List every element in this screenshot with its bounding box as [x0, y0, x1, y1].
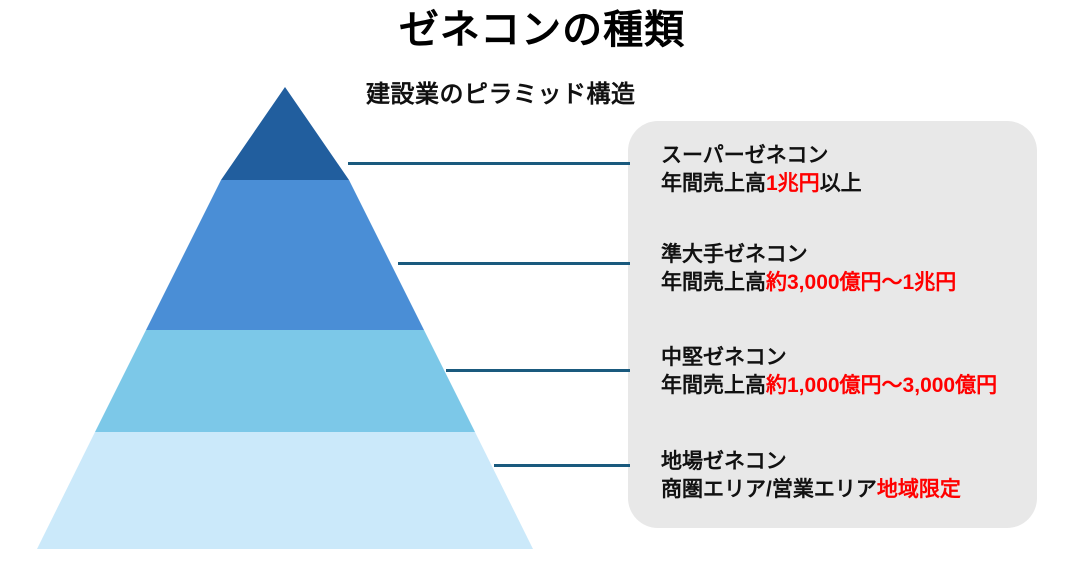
label-detail-highlight-jiba: 地域限定 — [877, 478, 961, 501]
label-block-chuken: 中堅ゼネコン 年間売上高約1,000億円〜3,000億円 — [661, 344, 997, 399]
label-detail-suffix-super: 以上 — [820, 172, 862, 195]
label-detail-prefix-jiba: 商圏エリア/営業エリア — [661, 478, 877, 501]
label-block-jun-otede: 準大手ゼネコン 年間売上高約3,000億円〜1兆円 — [661, 241, 956, 296]
label-block-super: スーパーゼネコン 年間売上高1兆円以上 — [661, 142, 862, 197]
label-detail-prefix-super: 年間売上高 — [661, 172, 766, 195]
label-detail-prefix-chuken: 年間売上高 — [661, 374, 766, 397]
pyramid-tier-3 — [95, 330, 475, 432]
connector-line-4 — [494, 464, 630, 467]
label-title-jiba: 地場ゼネコン — [661, 448, 961, 476]
slide-canvas: ゼネコンの種類 建設業のピラミッド構造 スーパーゼネコン 年間売上高1兆円以上 … — [0, 0, 1084, 577]
label-detail-jun-otede: 年間売上高約3,000億円〜1兆円 — [661, 269, 956, 297]
label-title-chuken: 中堅ゼネコン — [661, 344, 997, 372]
label-detail-highlight-super: 1兆円 — [766, 172, 820, 195]
connector-line-2 — [398, 262, 630, 265]
pyramid-diagram — [0, 0, 620, 577]
pyramid-tier-2 — [146, 180, 424, 330]
label-title-super: スーパーゼネコン — [661, 142, 862, 170]
label-detail-chuken: 年間売上高約1,000億円〜3,000億円 — [661, 372, 997, 400]
connector-line-1 — [348, 162, 630, 165]
label-detail-highlight-chuken: 約1,000億円〜3,000億円 — [766, 374, 997, 397]
label-detail-highlight-jun-otede: 約3,000億円〜1兆円 — [766, 271, 956, 294]
label-detail-super: 年間売上高1兆円以上 — [661, 170, 862, 198]
connector-line-3 — [446, 369, 630, 372]
label-title-jun-otede: 準大手ゼネコン — [661, 241, 956, 269]
label-detail-jiba: 商圏エリア/営業エリア地域限定 — [661, 476, 961, 504]
pyramid-tier-1 — [221, 87, 349, 180]
label-detail-prefix-jun-otede: 年間売上高 — [661, 271, 766, 294]
label-block-jiba: 地場ゼネコン 商圏エリア/営業エリア地域限定 — [661, 448, 961, 503]
pyramid-tier-4 — [37, 432, 533, 549]
